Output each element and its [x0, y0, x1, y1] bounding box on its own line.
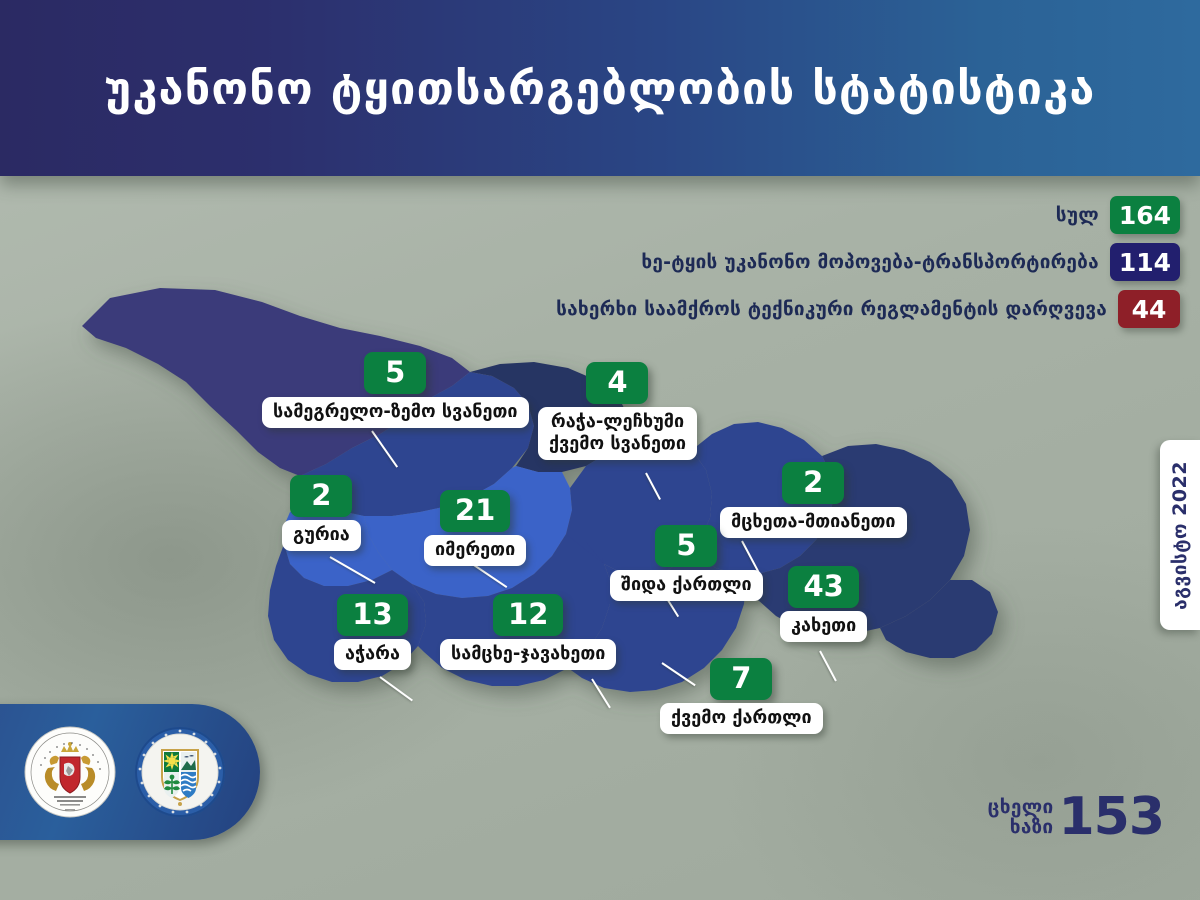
- region-name-imereti: იმერეთი: [424, 535, 526, 566]
- callout-samtskhe-javakheti[interactable]: 12 სამცხე-ჯავახეთი: [440, 594, 616, 670]
- region-name-adjara: აჭარა: [334, 639, 411, 670]
- count-badge-imereti: 21: [440, 490, 510, 532]
- region-name-samtskhe-javakheti: სამცხე-ჯავახეთი: [440, 639, 616, 670]
- legend-row-sawmill-regulation-violation: სახერხი საამქროს ტექნიკური რეგლამენტის დ…: [556, 290, 1180, 328]
- hotline-line-2: ხაზი: [988, 818, 1054, 838]
- legend-badge-total: 164: [1110, 196, 1180, 234]
- legend-badge-illegal-logging-transport: 114: [1110, 243, 1180, 281]
- legend-label-sawmill-regulation-violation: სახერხი საამქროს ტექნიკური რეგლამენტის დ…: [556, 298, 1107, 320]
- legend-row-illegal-logging-transport: ხე-ტყის უკანონო მოპოვება-ტრანსპორტირება …: [641, 243, 1180, 281]
- count-badge-samegrelo-zemo-svaneti: 5: [364, 352, 426, 394]
- ministry-of-environmental-protection-and-agriculture-emblem: [24, 726, 116, 818]
- legend: სულ 164 ხე-ტყის უკანონო მოპოვება-ტრანსპო…: [556, 196, 1180, 328]
- national-environmental-agency-emblem: [134, 726, 226, 818]
- region-name-guria: გურია: [282, 520, 361, 551]
- infographic-poster: უკანონო ტყითსარგებლობის სტატისტიკა: [0, 0, 1200, 900]
- count-badge-samtskhe-javakheti: 12: [493, 594, 563, 636]
- page-title: უკანონო ტყითსარგებლობის სტატისტიკა: [105, 62, 1096, 115]
- callout-kakheti[interactable]: 43 კახეთი: [780, 566, 867, 642]
- legend-row-total: სულ 164: [1056, 196, 1180, 234]
- region-name-shida-kartli: შიდა ქართლი: [610, 570, 763, 601]
- count-badge-adjara: 13: [337, 594, 407, 636]
- logo-plate: [0, 704, 260, 840]
- count-badge-guria: 2: [290, 475, 352, 517]
- callout-guria[interactable]: 2 გურია: [282, 475, 361, 551]
- callout-imereti[interactable]: 21 იმერეთი: [424, 490, 526, 566]
- region-name-samegrelo-zemo-svaneti: სამეგრელო-ზემო სვანეთი: [262, 397, 529, 428]
- count-badge-mtskheta-mtianeti: 2: [782, 462, 844, 504]
- header-banner: უკანონო ტყითსარგებლობის სტატისტიკა: [0, 0, 1200, 176]
- callout-kvemo-kartli[interactable]: 7 ქვემო ქართლი: [660, 658, 823, 734]
- region-name-kvemo-kartli: ქვემო ქართლი: [660, 703, 823, 734]
- hotline-words: ცხელი ხაზი: [988, 798, 1054, 838]
- count-badge-racha-lechkhumi-kvemo-svaneti: 4: [586, 362, 648, 404]
- legend-label-illegal-logging-transport: ხე-ტყის უკანონო მოპოვება-ტრანსპორტირება: [641, 251, 1098, 273]
- legend-badge-sawmill-regulation-violation: 44: [1118, 290, 1180, 328]
- callout-samegrelo-zemo-svaneti[interactable]: 5 სამეგრელო-ზემო სვანეთი: [262, 352, 529, 428]
- hotline-number: 153: [1058, 794, 1164, 842]
- count-badge-shida-kartli: 5: [655, 525, 717, 567]
- count-badge-kakheti: 43: [788, 566, 858, 608]
- callout-racha-lechkhumi-kvemo-svaneti[interactable]: 4 რაჭა-ლეჩხუმი ქვემო სვანეთი: [538, 362, 697, 460]
- callout-adjara[interactable]: 13 აჭარა: [334, 594, 411, 670]
- date-tab-label: აგვისტო 2022: [1169, 461, 1191, 610]
- hotline: ცხელი ხაზი 153: [988, 794, 1164, 842]
- count-badge-kvemo-kartli: 7: [710, 658, 772, 700]
- region-name-kakheti: კახეთი: [780, 611, 867, 642]
- legend-label-total: სულ: [1056, 204, 1099, 226]
- date-tab: აგვისტო 2022: [1160, 440, 1200, 630]
- region-name-racha-lechkhumi-kvemo-svaneti: რაჭა-ლეჩხუმი ქვემო სვანეთი: [538, 407, 697, 460]
- callout-shida-kartli[interactable]: 5 შიდა ქართლი: [610, 525, 763, 601]
